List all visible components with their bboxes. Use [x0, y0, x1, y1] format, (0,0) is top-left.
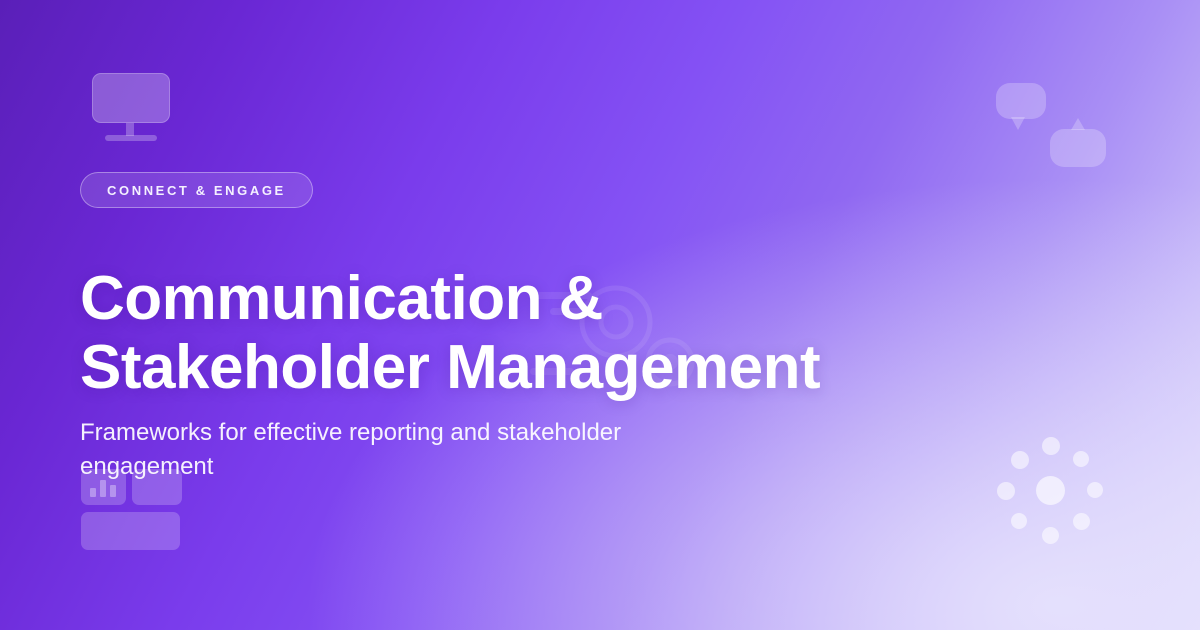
dot-s [1042, 527, 1059, 544]
monitor-screen [92, 73, 170, 123]
dot-center [1036, 476, 1065, 505]
dot-w [997, 482, 1015, 500]
dashboard-cards [81, 469, 182, 551]
radial-dot-cluster [995, 435, 1107, 547]
speech-bubble-icon-bottom [1050, 129, 1106, 167]
speech-bubble-tail [1071, 118, 1085, 130]
page-title: Communication & Stakeholder Management [80, 264, 980, 403]
page-title-line-1: Communication & [80, 264, 603, 333]
dot-sw [1011, 513, 1027, 529]
eyebrow-badge: CONNECT & ENGAGE [80, 172, 313, 208]
dot-n [1042, 437, 1060, 455]
speech-bubble-icon-top [996, 83, 1046, 119]
dashboard-card-chart [81, 469, 126, 505]
dot-ne [1073, 451, 1089, 467]
mini-bar-chart-icon [90, 480, 116, 497]
dot-se [1073, 513, 1090, 530]
dashboard-card-panel [132, 469, 182, 505]
page-title-line-2: Stakeholder Management [80, 333, 980, 402]
dashboard-card-wide [81, 512, 180, 550]
speech-bubble-body [996, 83, 1046, 119]
speech-bubble-tail [1011, 117, 1025, 130]
speech-bubble-body [1050, 129, 1106, 167]
dot-e [1087, 482, 1103, 498]
monitor-icon [90, 71, 172, 143]
eyebrow-badge-label: CONNECT & ENGAGE [107, 184, 286, 197]
hero-banner: CONNECT & ENGAGE Communication & Stakeho… [0, 0, 1200, 630]
monitor-stand-base [105, 135, 157, 141]
dot-nw [1011, 451, 1029, 469]
